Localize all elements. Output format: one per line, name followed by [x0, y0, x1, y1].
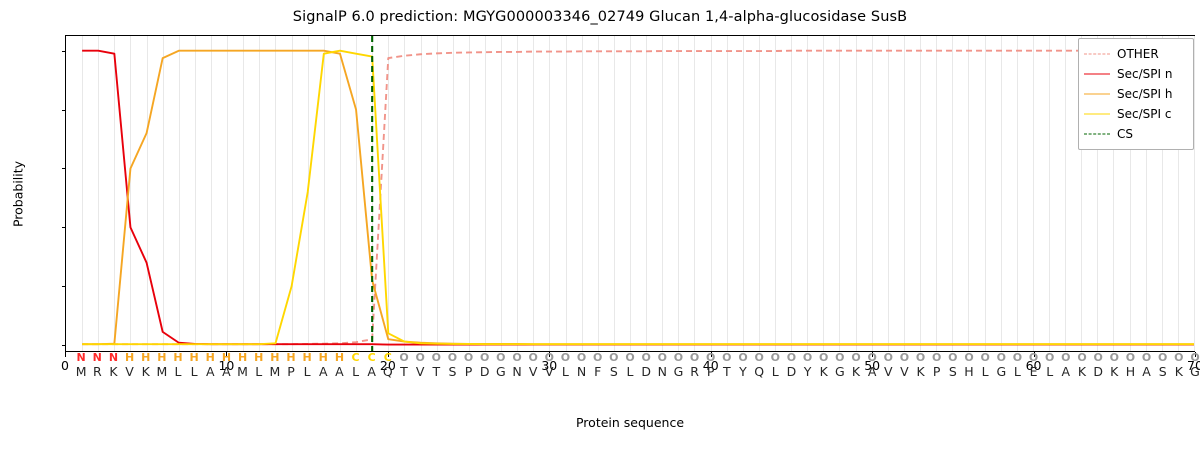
region-label: H: [173, 352, 182, 364]
residue-column: OT: [399, 352, 408, 379]
amino-acid-label: L: [352, 364, 360, 379]
amino-acid-label: D: [480, 364, 490, 379]
amino-acid-label: V: [900, 364, 909, 379]
amino-acid-label: L: [625, 364, 634, 379]
amino-acid-label: L: [173, 364, 182, 379]
region-label: H: [206, 352, 215, 364]
region-label: O: [1013, 352, 1022, 364]
residue-column: OV: [545, 352, 554, 379]
legend: OTHERSec/SPI nSec/SPI hSec/SPI cCS: [1078, 38, 1194, 150]
amino-acid-label: A: [335, 364, 344, 379]
region-label: O: [706, 352, 715, 364]
residue-column: OK: [916, 352, 925, 379]
residue-column: OS: [609, 352, 618, 379]
legend-swatch-icon: [1084, 48, 1110, 60]
amino-acid-label: P: [932, 364, 941, 379]
legend-label: OTHER: [1117, 47, 1159, 61]
region-label: O: [690, 352, 699, 364]
legend-label: Sec/SPI c: [1117, 107, 1171, 121]
region-label: C: [367, 352, 376, 364]
amino-acid-label: A: [319, 364, 328, 379]
residue-column: OP: [932, 352, 941, 379]
amino-acid-label: P: [706, 364, 715, 379]
amino-acid-label: L: [561, 364, 570, 379]
region-label: O: [754, 352, 764, 364]
residue-column: OK: [819, 352, 828, 379]
region-label: H: [125, 352, 134, 364]
residue-column: OA: [1142, 352, 1151, 379]
region-label: O: [722, 352, 731, 364]
residue-column: OL: [771, 352, 780, 379]
amino-acid-label: S: [1158, 364, 1167, 379]
region-label: O: [561, 352, 570, 364]
residue-column: NR: [93, 352, 102, 379]
region-label: O: [738, 352, 747, 364]
amino-acid-label: P: [286, 364, 295, 379]
x-axis-tick-label: 0: [61, 358, 69, 373]
region-label: O: [496, 352, 506, 364]
residue-column: OG: [1190, 352, 1200, 379]
residue-column: OF: [593, 352, 602, 379]
amino-acid-label: L: [980, 364, 989, 379]
amino-acid-label: R: [93, 364, 102, 379]
residue-column: OH: [964, 352, 973, 379]
residue-column: OD: [787, 352, 797, 379]
residue-column: OP: [464, 352, 473, 379]
region-label: O: [577, 352, 586, 364]
residue-column: OL: [1013, 352, 1022, 379]
region-label: O: [448, 352, 457, 364]
amino-acid-label: F: [593, 364, 602, 379]
amino-acid-label: V: [884, 364, 893, 379]
signalp-prediction-figure: SignalP 6.0 prediction: MGYG000003346_02…: [0, 0, 1200, 450]
region-label: O: [867, 352, 876, 364]
region-label: H: [190, 352, 199, 364]
region-label: O: [399, 352, 408, 364]
region-label: O: [900, 352, 909, 364]
amino-acid-label: K: [851, 364, 860, 379]
residue-column: OK: [1174, 352, 1183, 379]
region-label: H: [141, 352, 150, 364]
region-label: O: [996, 352, 1006, 364]
residue-column: HM: [237, 352, 248, 379]
region-label: O: [1045, 352, 1054, 364]
legend-swatch-icon: [1084, 108, 1110, 120]
amino-acid-label: Y: [738, 364, 747, 379]
residue-column: OA: [1061, 352, 1070, 379]
residue-column: OD: [1093, 352, 1103, 379]
region-label: H: [286, 352, 295, 364]
amino-acid-label: S: [609, 364, 618, 379]
residue-column: HA: [335, 352, 344, 379]
residue-column: OG: [996, 352, 1006, 379]
residue-column: OK: [1077, 352, 1086, 379]
x-axis-label: Protein sequence: [65, 415, 1195, 430]
amino-acid-label: L: [254, 364, 263, 379]
residue-column: OL: [1045, 352, 1054, 379]
legend-swatch-icon: [1084, 128, 1110, 140]
amino-acid-label: V: [545, 364, 554, 379]
page-title: SignalP 6.0 prediction: MGYG000003346_02…: [0, 9, 1200, 25]
amino-acid-label: S: [948, 364, 957, 379]
amino-acid-label: M: [269, 364, 280, 379]
legend-item: CS: [1084, 124, 1187, 144]
region-label: O: [641, 352, 651, 364]
residue-column: ON: [512, 352, 521, 379]
residue-column: CQ: [383, 352, 393, 379]
residue-column: HV: [125, 352, 134, 379]
amino-acid-label: G: [996, 364, 1006, 379]
residue-column: OL: [625, 352, 634, 379]
residue-column: OP: [706, 352, 715, 379]
residue-column: HK: [141, 352, 150, 379]
amino-acid-label: H: [964, 364, 973, 379]
amino-acid-label: R: [690, 364, 699, 379]
region-label: O: [851, 352, 860, 364]
legend-swatch-icon: [1084, 88, 1110, 100]
residue-column: ON: [577, 352, 586, 379]
residue-column: OL: [561, 352, 570, 379]
residue-column: OG: [496, 352, 506, 379]
amino-acid-label: A: [206, 364, 215, 379]
region-label: H: [237, 352, 248, 364]
residue-column: HL: [254, 352, 263, 379]
amino-acid-label: N: [658, 364, 667, 379]
amino-acid-label: D: [641, 364, 651, 379]
region-label: O: [609, 352, 618, 364]
residue-column: OV: [900, 352, 909, 379]
region-label: H: [156, 352, 167, 364]
amino-acid-label: Y: [803, 364, 812, 379]
region-label: O: [658, 352, 667, 364]
residue-column: HP: [286, 352, 295, 379]
residue-column: CA: [367, 352, 376, 379]
region-label: O: [916, 352, 925, 364]
region-label: O: [432, 352, 441, 364]
residue-column: HA: [319, 352, 328, 379]
amino-acid-label: L: [1045, 364, 1054, 379]
residue-column: OV: [528, 352, 537, 379]
residue-column: OV: [884, 352, 893, 379]
amino-acid-label: M: [237, 364, 248, 379]
plot-area: 0.00.20.40.60.81.0 Probability: [65, 35, 1195, 352]
legend-label: CS: [1117, 127, 1133, 141]
amino-acid-label: K: [1077, 364, 1086, 379]
amino-acid-label: K: [819, 364, 828, 379]
amino-acid-label: K: [141, 364, 150, 379]
residue-column: OY: [803, 352, 812, 379]
region-label: O: [674, 352, 684, 364]
amino-acid-label: H: [1126, 364, 1135, 379]
residue-column: OR: [690, 352, 699, 379]
residue-column: HL: [190, 352, 199, 379]
amino-acid-label: N: [577, 364, 586, 379]
residue-column: OT: [432, 352, 441, 379]
region-label: O: [1142, 352, 1151, 364]
amino-acid-label: G: [1190, 364, 1200, 379]
residue-column: OE: [1029, 352, 1038, 379]
amino-acid-label: N: [512, 364, 521, 379]
region-label: O: [415, 352, 424, 364]
legend-item: Sec/SPI h: [1084, 84, 1187, 104]
region-label: O: [948, 352, 957, 364]
amino-acid-label: T: [722, 364, 731, 379]
amino-acid-label: G: [496, 364, 506, 379]
region-label: O: [1126, 352, 1135, 364]
region-label: O: [964, 352, 973, 364]
amino-acid-label: V: [528, 364, 537, 379]
region-label: N: [109, 352, 118, 364]
residue-column: OL: [980, 352, 989, 379]
amino-acid-label: A: [1142, 364, 1151, 379]
residue-column: OV: [415, 352, 424, 379]
region-label: H: [303, 352, 312, 364]
amino-acid-label: V: [415, 364, 424, 379]
region-label: O: [528, 352, 537, 364]
amino-acid-label: L: [1013, 364, 1022, 379]
residue-column: OY: [738, 352, 747, 379]
region-label: O: [1158, 352, 1167, 364]
legend-swatch-icon: [1084, 68, 1110, 80]
chart-svg: [66, 36, 1194, 351]
residue-column: OD: [480, 352, 490, 379]
gridline-vertical: [1194, 36, 1195, 351]
region-label: O: [884, 352, 893, 364]
region-label: O: [1077, 352, 1086, 364]
series-sec-spi-c: [82, 51, 1194, 345]
residue-column: HL: [173, 352, 182, 379]
amino-acid-label: K: [1174, 364, 1183, 379]
legend-item: OTHER: [1084, 44, 1187, 64]
x-axis-tick: [65, 352, 66, 357]
region-label: N: [76, 352, 87, 364]
amino-acid-label: A: [1061, 364, 1070, 379]
residue-column: OD: [641, 352, 651, 379]
legend-label: Sec/SPI n: [1117, 67, 1172, 81]
amino-acid-label: E: [1029, 364, 1038, 379]
residue-column: NK: [109, 352, 118, 379]
amino-acid-label: G: [674, 364, 684, 379]
amino-acid-label: L: [771, 364, 780, 379]
amino-acid-label: M: [156, 364, 167, 379]
region-label: H: [269, 352, 280, 364]
residue-column: OT: [722, 352, 731, 379]
residue-column: HA: [222, 352, 231, 379]
residue-column: NM: [76, 352, 87, 379]
amino-acid-label: K: [916, 364, 925, 379]
series-other: [82, 51, 1194, 345]
region-label: C: [352, 352, 360, 364]
amino-acid-label: P: [464, 364, 473, 379]
region-label: O: [593, 352, 602, 364]
amino-acid-label: T: [432, 364, 441, 379]
residue-column: OG: [674, 352, 684, 379]
residue-column: OG: [835, 352, 845, 379]
region-label: O: [1110, 352, 1119, 364]
region-label: O: [625, 352, 634, 364]
region-label: O: [932, 352, 941, 364]
amino-acid-label: L: [190, 364, 199, 379]
residue-column: ON: [658, 352, 667, 379]
series-sec-spi-h: [82, 51, 1194, 345]
amino-acid-label: A: [867, 364, 876, 379]
amino-acid-label: A: [367, 364, 376, 379]
region-label: O: [980, 352, 989, 364]
region-label: O: [480, 352, 490, 364]
residue-column: OQ: [754, 352, 764, 379]
amino-acid-label: T: [399, 364, 408, 379]
amino-acid-label: D: [1093, 364, 1103, 379]
residue-column: OH: [1126, 352, 1135, 379]
region-label: O: [819, 352, 828, 364]
amino-acid-label: L: [303, 364, 312, 379]
amino-acid-label: A: [222, 364, 231, 379]
region-label: O: [512, 352, 521, 364]
legend-item: Sec/SPI c: [1084, 104, 1187, 124]
region-label: H: [222, 352, 231, 364]
region-label: O: [803, 352, 812, 364]
region-label: O: [1093, 352, 1103, 364]
residue-column: OK: [851, 352, 860, 379]
amino-acid-label: K: [109, 364, 118, 379]
legend-label: Sec/SPI h: [1117, 87, 1172, 101]
legend-item: Sec/SPI n: [1084, 64, 1187, 84]
region-label: C: [383, 352, 393, 364]
region-label: O: [1190, 352, 1200, 364]
region-label: H: [254, 352, 263, 364]
series-layer: [66, 36, 1194, 351]
region-label: O: [771, 352, 780, 364]
residue-column: OK: [1110, 352, 1119, 379]
amino-acid-label: M: [76, 364, 87, 379]
residue-column: OS: [948, 352, 957, 379]
y-axis-label: Probability: [11, 160, 26, 226]
region-label: O: [545, 352, 554, 364]
amino-acid-label: K: [1110, 364, 1119, 379]
residue-column: OS: [448, 352, 457, 379]
amino-acid-label: S: [448, 364, 457, 379]
residue-column: HM: [156, 352, 167, 379]
amino-acid-label: Q: [383, 364, 393, 379]
region-label: O: [1061, 352, 1070, 364]
series-sec-spi-n: [82, 51, 1194, 345]
region-label: H: [319, 352, 328, 364]
residue-column: CL: [352, 352, 360, 379]
residue-column: OA: [867, 352, 876, 379]
region-label: O: [464, 352, 473, 364]
amino-acid-label: D: [787, 364, 797, 379]
residue-column: HA: [206, 352, 215, 379]
region-label: O: [1174, 352, 1183, 364]
region-label: N: [93, 352, 102, 364]
region-label: O: [835, 352, 845, 364]
residue-column: HL: [303, 352, 312, 379]
amino-acid-label: Q: [754, 364, 764, 379]
region-label: O: [787, 352, 797, 364]
residue-column: OS: [1158, 352, 1167, 379]
residue-column: HM: [269, 352, 280, 379]
region-label: H: [335, 352, 344, 364]
amino-acid-label: G: [835, 364, 845, 379]
region-label: O: [1029, 352, 1038, 364]
amino-acid-label: V: [125, 364, 134, 379]
